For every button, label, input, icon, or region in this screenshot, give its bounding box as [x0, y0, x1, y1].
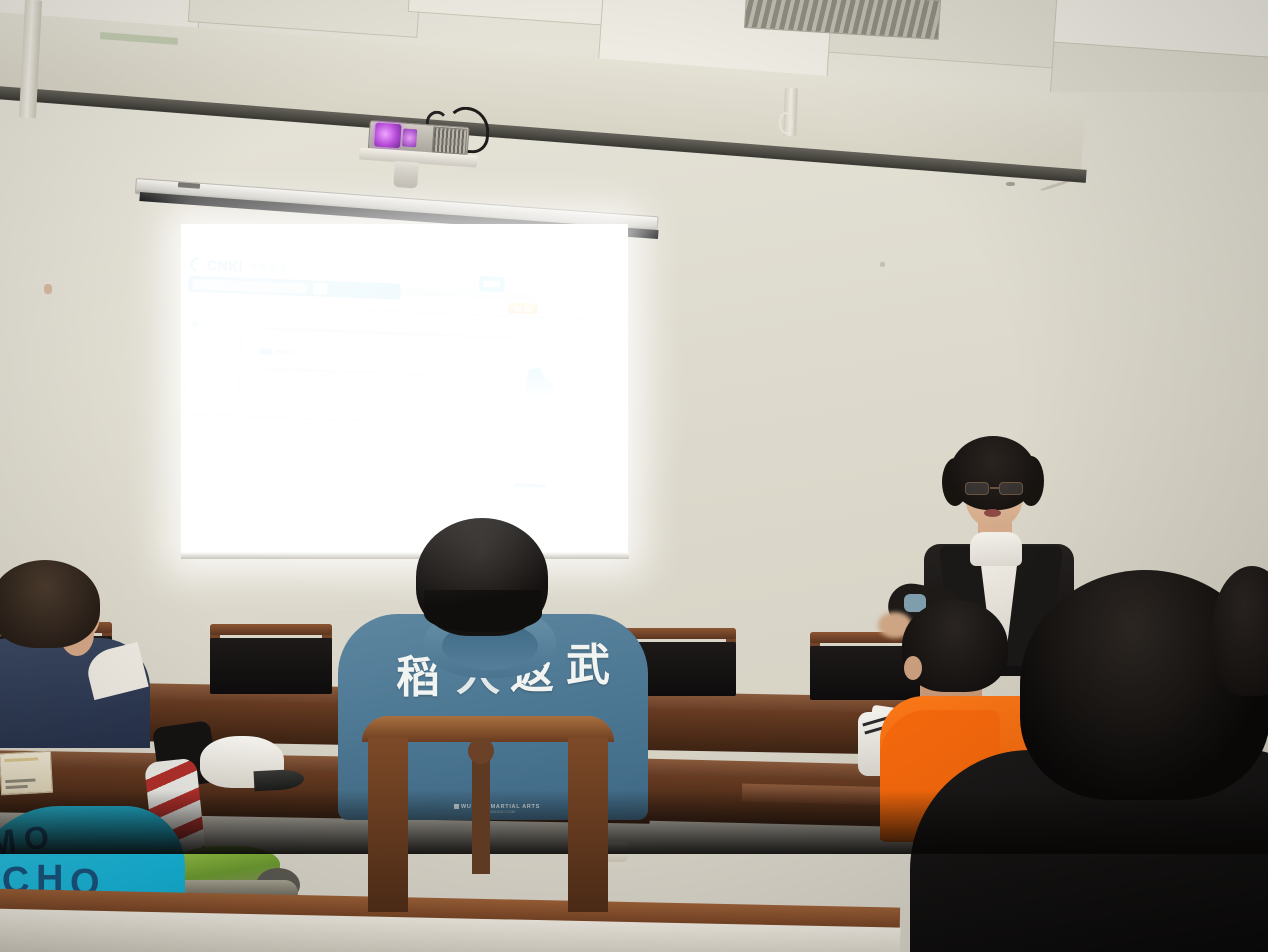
foreground-shadow	[0, 790, 1268, 854]
student-orange-hair	[902, 600, 1008, 692]
projector-lens-secondary-icon	[402, 128, 417, 147]
student-left-hair	[0, 560, 100, 648]
student-hoodie-hair-fringe	[424, 590, 542, 632]
result-chip-label	[275, 350, 303, 354]
highlight-button[interactable]	[508, 303, 538, 315]
search-bar[interactable]	[188, 276, 400, 300]
projected-slide: CNKI 中国知网	[181, 224, 628, 558]
projection-screen: CNKI 中国知网	[181, 224, 628, 558]
slide-footer-accent	[514, 483, 546, 487]
highlight-chip-2-icon	[524, 306, 532, 312]
result-chip-icon	[260, 348, 272, 355]
projector-lens-icon	[374, 122, 402, 148]
ceiling-projector	[357, 104, 492, 193]
student-orange-ear	[904, 656, 922, 680]
hoodie-kanji-4: 武	[566, 644, 610, 688]
facet-panel[interactable]	[184, 317, 242, 396]
cnki-subtitle: 中国知网	[250, 262, 289, 274]
white-cap	[196, 736, 304, 794]
search-input[interactable]	[193, 278, 308, 293]
chair-foreground[interactable]	[362, 716, 614, 912]
cap-brim	[254, 769, 305, 792]
monitor-button-icon[interactable]	[479, 276, 505, 292]
hanging-wire-icon	[779, 112, 793, 134]
facet-tag-icon	[191, 321, 199, 327]
cnki-wordmark: CNKI	[207, 257, 243, 274]
student-left-navy	[0, 560, 180, 740]
glasses-icon	[964, 482, 1024, 496]
trend-chart-svg	[519, 365, 569, 399]
photo-scene: CNKI 中国知网	[0, 0, 1268, 952]
highlight-chip-1-icon	[514, 306, 522, 312]
projector-vent-icon	[432, 127, 468, 155]
cnki-swoosh-icon	[188, 255, 207, 274]
search-icon[interactable]	[313, 282, 327, 294]
id-badge	[0, 751, 53, 796]
presenter-mouth	[984, 509, 1001, 517]
chair-back-1[interactable]	[210, 632, 332, 698]
presenter-turtleneck	[970, 532, 1022, 566]
presenter-hair	[950, 436, 1036, 510]
trend-chart	[519, 365, 569, 399]
projector-ceiling-mount	[393, 161, 419, 189]
cnki-logo: CNKI 中国知网	[190, 257, 289, 277]
